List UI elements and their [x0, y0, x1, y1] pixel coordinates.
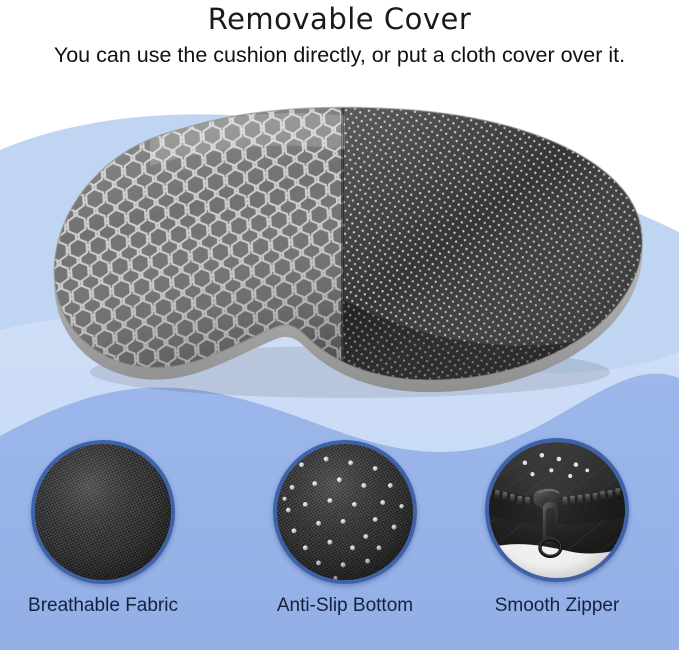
feature-caption-anti-slip-bottom: Anti-Slip Bottom	[245, 594, 445, 618]
feature-circle-breathable-fabric[interactable]	[31, 440, 175, 584]
anti-slip-dots	[277, 444, 413, 580]
product-infographic: Removable Cover You can use the cushion …	[0, 0, 679, 650]
feature-circle-anti-slip-bottom[interactable]	[273, 440, 417, 584]
page-subtitle: You can use the cushion directly, or put…	[0, 42, 679, 68]
page-title: Removable Cover	[0, 2, 679, 36]
feature-circle-smooth-zipper[interactable]	[485, 438, 629, 582]
feature-caption-breathable-fabric: Breathable Fabric	[3, 594, 203, 618]
breathable-fabric-weave	[35, 444, 171, 580]
feature-caption-smooth-zipper: Smooth Zipper	[457, 594, 657, 618]
zipper-closeup	[489, 442, 625, 578]
